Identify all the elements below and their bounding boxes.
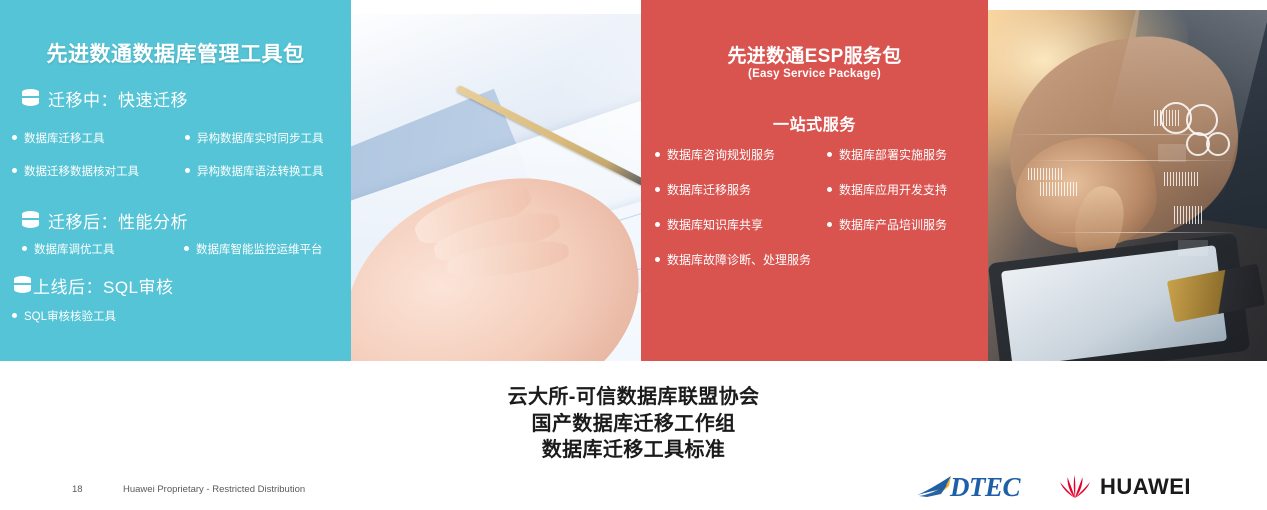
list-item[interactable]: 数据库知识库共享 [655,218,827,233]
bullet-dot-icon [185,168,190,173]
confidentiality-note: Huawei Proprietary - Restricted Distribu… [123,484,305,495]
bullet-dot-icon [12,168,17,173]
left-group-heading-after-golive: 上线后：SQL审核 [14,273,174,298]
page-title-line-3: 数据库迁移工具标准 [0,437,1267,464]
list-item[interactable]: 数据库产品培训服务 [827,218,988,233]
list-item-label: 数据库故障诊断、处理服务 [667,253,811,268]
list-item[interactable]: SQL审核核验工具 [12,310,350,325]
bullet-dot-icon [655,222,660,227]
bullet-dot-icon [655,257,660,262]
left-bullet-group-1: 数据库迁移工具 异构数据库实时同步工具 数据迁移数据核对工具 异构数据库语法转换… [12,132,350,180]
list-item[interactable]: 数据库智能监控运维平台 [184,243,360,258]
list-item[interactable]: 数据库迁移服务 [655,183,827,198]
list-item-label: SQL审核核验工具 [24,310,116,325]
list-item[interactable]: 异构数据库实时同步工具 [185,132,360,147]
database-icon [14,276,31,296]
list-item-label: 数据库应用开发支持 [839,183,947,198]
list-item-label: 数据库知识库共享 [667,218,763,233]
bullet-dot-icon [827,152,832,157]
huawei-flower-icon [1058,474,1092,500]
dtec-logo: DTEC [915,470,1043,504]
hud-bars-4 [1028,168,1062,180]
left-group-heading-migrating: 迁移中：快速迁移 [22,86,188,111]
bullet-dot-icon [827,187,832,192]
left-group-heading-label: 上线后：SQL审核 [33,273,174,298]
page-title-line-1: 云大所-可信数据库联盟协会 [0,384,1267,411]
page-title-line-2: 国产数据库迁移工作组 [0,411,1267,438]
hud-bars-5 [1040,182,1078,196]
left-panel-title: 先进数通数据库管理工具包 [0,38,351,68]
list-item-label: 数据库智能监控运维平台 [196,243,323,258]
bullet-dot-icon [185,135,190,140]
right-bullet-list: 数据库咨询规划服务 数据库部署实施服务 数据库迁移服务 数据库应用开发支持 数据… [655,148,988,268]
list-item[interactable]: 数据库部署实施服务 [827,148,988,163]
right-panel-title: 先进数通ESP服务包 [641,41,988,68]
list-item[interactable]: 数据库故障诊断、处理服务 [655,253,988,268]
right-photo [988,10,1267,361]
bullet-dot-icon [184,246,189,251]
list-item-label: 异构数据库实时同步工具 [197,132,324,147]
bullet-dot-icon [12,135,17,140]
list-item[interactable]: 异构数据库语法转换工具 [185,165,360,180]
bullet-dot-icon [655,152,660,157]
list-item-label: 数据库咨询规划服务 [667,148,775,163]
left-panel: 先进数通数据库管理工具包 迁移中：快速迁移 数据库迁移工具 异构数据库实时同步工… [0,0,351,361]
list-item[interactable]: 数据库应用开发支持 [827,183,988,198]
dtec-logo-text: DTEC [950,474,1020,501]
list-item-label: 数据库迁移服务 [667,183,751,198]
bullet-dot-icon [827,222,832,227]
right-panel: 先进数通ESP服务包 (Easy Service Package) 一站式服务 … [641,0,988,361]
bullet-dot-icon [655,187,660,192]
bullet-dot-icon [12,313,17,318]
dtec-arrow-icon [915,474,955,500]
list-item-label: 数据库产品培训服务 [839,218,947,233]
visual-band: Regional segments 100 80 60 40 20 0 Cent… [0,0,1267,361]
page-title: 云大所-可信数据库联盟协会 国产数据库迁移工作组 数据库迁移工具标准 [0,384,1267,464]
huawei-logo-text: HUAWEI [1100,476,1191,498]
list-item-label: 异构数据库语法转换工具 [197,165,324,180]
list-item[interactable]: 数据库调优工具 [22,243,174,258]
list-item-label: 数据库部署实施服务 [839,148,947,163]
database-icon [22,211,39,231]
left-group-heading-label: 迁移中：快速迁移 [48,86,188,111]
left-bullet-group-2: 数据库调优工具 数据库智能监控运维平台 [22,243,350,258]
right-panel-subtitle: (Easy Service Package) [641,68,988,80]
list-item-label: 数据库调优工具 [34,243,115,258]
page-number: 18 [72,484,83,495]
left-bullet-group-3: SQL审核核验工具 [12,310,350,325]
left-group-heading-label: 迁移后：性能分析 [48,208,188,233]
list-item[interactable]: 数据迁移数据核对工具 [12,165,175,180]
list-item[interactable]: 数据库咨询规划服务 [655,148,827,163]
database-icon [22,89,39,109]
bullet-dot-icon [22,246,27,251]
list-item-label: 数据迁移数据核对工具 [24,165,139,180]
list-item-label: 数据库迁移工具 [24,132,105,147]
left-group-heading-after-migration: 迁移后：性能分析 [22,208,188,233]
huawei-logo: HUAWEI [1058,470,1208,504]
right-panel-section-heading: 一站式服务 [641,111,988,135]
list-item[interactable]: 数据库迁移工具 [12,132,175,147]
